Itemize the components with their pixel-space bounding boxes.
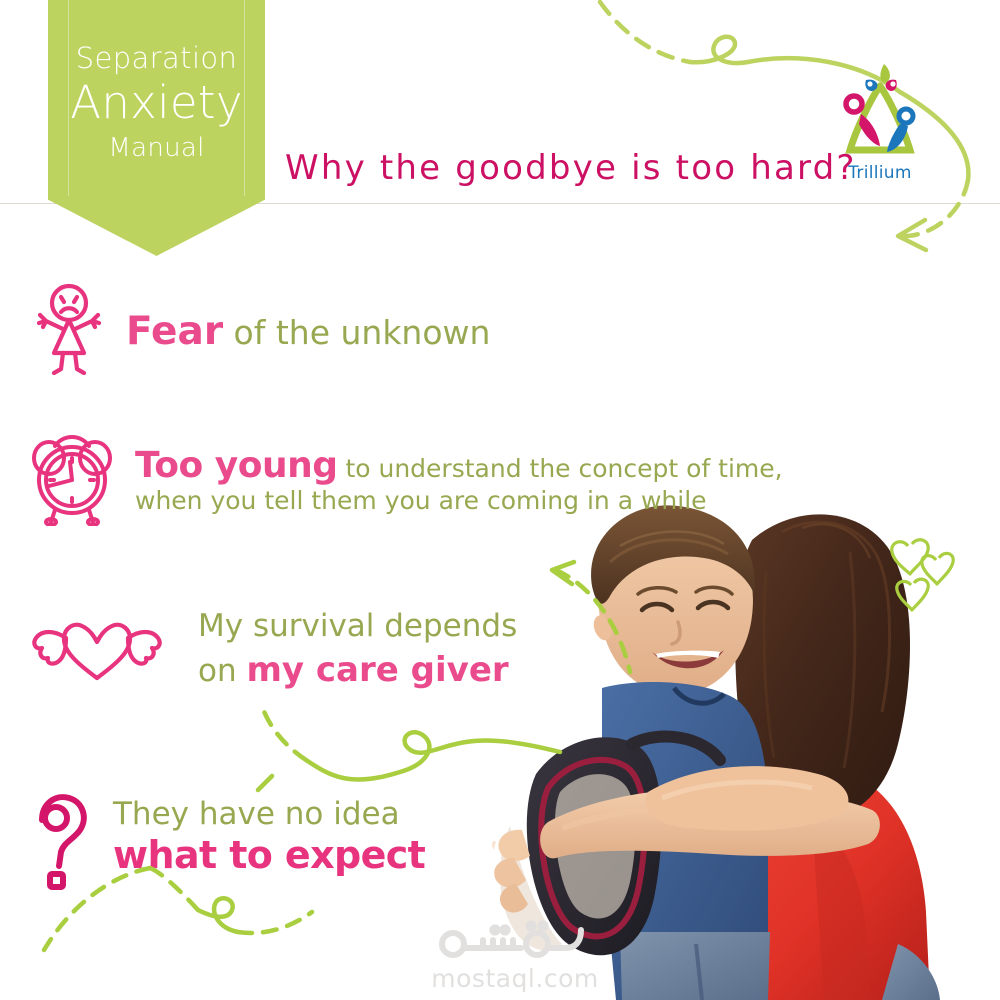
watermark: mostaql.com [425,918,605,984]
bullet-text-too-young-line2: when you tell them you are coming in a w… [135,486,707,517]
bullet-text-care-giver-line2: on my care giver [198,650,509,691]
page-title: Why the goodbye is too hard? [285,148,857,188]
title-ribbon-banner: Separation Anxiety Manual [48,0,265,256]
trillium-logo: Trillium [830,58,930,190]
bullet-emphasis-too-young: Too young [135,445,338,486]
bullet-text-expect-line2: what to expect [113,832,425,878]
watermark-domain: mostaql.com [425,964,605,993]
bullet-emphasis-care-giver: my care giver [246,650,508,690]
bullet-item-too-young: Too young to understand the concept of t… [25,428,765,543]
bullet-text-fear: Fear of the unknown [126,308,490,356]
question-mark-icon [28,790,94,890]
mostaql-arabic-logo-icon [425,918,605,958]
sad-stick-figure-icon [30,283,108,375]
bullet-item-what-to-expect: They have no idea what to expect [28,790,478,900]
banner-line-1: Separation [48,44,265,73]
trillium-logo-mark [830,58,930,162]
ribbon-text-block: Separation Anxiety Manual [48,44,265,161]
bullet-rest-too-young: to understand the concept of time, [338,454,783,483]
bullet-text-care-giver-line1: My survival depends [198,608,517,646]
bullet-rest-fear: of the unknown [223,313,490,352]
bullet-prefix-care-giver: on [198,653,246,689]
bullet-item-fear: Fear of the unknown [30,283,470,378]
logo-wordmark: Trillium [830,163,930,183]
bullet-emphasis-fear: Fear [126,309,223,354]
alarm-clock-icon [25,428,119,526]
winged-heart-icon [30,608,164,690]
banner-line-2: Anxiety [48,80,265,125]
bullet-text-expect-line1: They have no idea [113,796,400,834]
banner-line-3: Manual [48,135,265,161]
bullet-text-too-young-line1: Too young to understand the concept of t… [135,444,783,488]
infographic-poster: Separation Anxiety Manual Why the goodby… [0,0,1000,1000]
bullet-item-care-giver: My survival depends on my care giver [30,600,530,710]
